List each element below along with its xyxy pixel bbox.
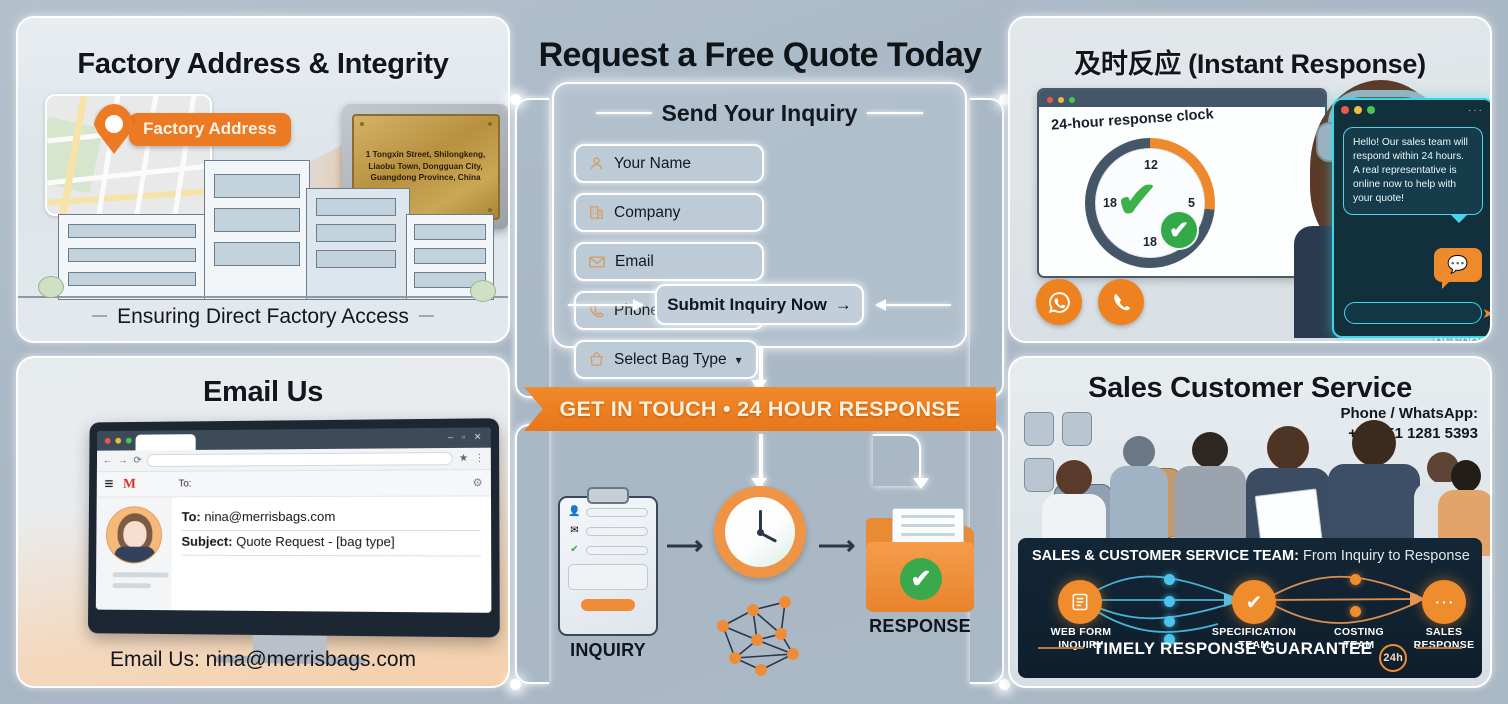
browser-tab[interactable] xyxy=(135,434,195,450)
gear-icon[interactable]: ⚙ xyxy=(472,476,482,489)
envelope-mini-icon: ✉ xyxy=(568,526,581,536)
page-headline: Request a Free Quote Today xyxy=(518,36,1002,75)
arrow-left-to-submit xyxy=(568,304,643,306)
pipeline-node-specification: ✔ xyxy=(1232,580,1276,624)
browser-titlebar: – ▫ ✕ xyxy=(97,427,491,450)
plaque-address-text: 1 Tongxin Street, Shilongkeng, Liaobu To… xyxy=(354,149,498,184)
email-subject-row[interactable]: Subject: Quote Request - [bag type] xyxy=(181,531,480,557)
window-minimize-dot[interactable] xyxy=(115,438,121,444)
chat-more-icon[interactable]: ··· xyxy=(1468,105,1484,116)
window-close-dot[interactable] xyxy=(105,438,111,444)
field-company-placeholder: Company xyxy=(614,204,680,222)
field-bag-type-value: Select Bag Type xyxy=(614,351,727,369)
person-mini-icon: 👤 xyxy=(568,507,581,517)
submit-inquiry-button[interactable]: Submit Inquiry Now → xyxy=(655,284,864,325)
inquiry-response-flow: 👤 ✉ ✔ INQUIRY ⟶ xyxy=(518,468,1002,678)
timely-response-guarantee: TIMELY RESPONSE GUARANTEE24h xyxy=(1018,639,1482,672)
clock-verified-badge: ✔ xyxy=(1159,210,1199,250)
pipeline-node-web-form xyxy=(1058,580,1102,624)
whatsapp-icon[interactable] xyxy=(1036,279,1082,325)
arrow-right-to-submit xyxy=(876,304,951,306)
envelope-icon xyxy=(588,253,606,271)
form-heading: Send Your Inquiry xyxy=(554,100,965,127)
check-mini-icon: ✔ xyxy=(568,545,581,555)
flow-response-label: RESPONSE xyxy=(866,616,974,637)
pipeline-strip: SALES & CUSTOMER SERVICE TEAM: From Inqu… xyxy=(1018,538,1482,678)
arrow-right-icon: → xyxy=(835,295,852,315)
live-chat-window[interactable]: ··· Hello! Our sales team will respond w… xyxy=(1332,98,1492,338)
avatar xyxy=(106,506,162,563)
gmail-header: ≡ M To: ⚙ xyxy=(97,470,491,498)
get-in-touch-ribbon: GET IN TOUCH • 24 HOUR RESPONSE xyxy=(524,387,996,431)
clock-num-5: 5 xyxy=(1188,196,1195,210)
guarantee-24h-badge: 24h xyxy=(1379,644,1407,672)
email-to-value: nina@merrisbags.com xyxy=(204,509,335,524)
window-maximize-dot[interactable] xyxy=(126,438,132,444)
clock-num-18-bottom: 18 xyxy=(1143,235,1157,249)
email-to-row[interactable]: To: nina@merrisbags.com xyxy=(182,506,481,531)
monitor-illustration: – ▫ ✕ ← → ⟳ ★ ⋮ ≡ M To: ⚙ xyxy=(88,418,500,637)
chat-input[interactable] xyxy=(1344,302,1482,324)
email-compose-body: To: nina@merrisbags.com Subject: Quote R… xyxy=(171,496,491,612)
sales-team-illustration xyxy=(1018,406,1482,556)
panel-factory-address: Factory Address & Integrity Factory Addr… xyxy=(16,16,510,343)
pipeline-title-bold: SALES & CUSTOMER SERVICE TEAM: xyxy=(1032,548,1299,564)
person-icon xyxy=(588,155,605,172)
building-icon xyxy=(588,204,605,221)
center-column: Request a Free Quote Today Send Your Inq… xyxy=(518,16,1002,688)
map-pin-factory-address[interactable]: Factory Address xyxy=(93,104,291,154)
flow-arrow-1: ⟶ xyxy=(666,530,703,561)
field-company[interactable]: Company xyxy=(574,193,764,232)
browser-window[interactable]: – ▫ ✕ ← → ⟳ ★ ⋮ ≡ M To: ⚙ xyxy=(96,427,492,612)
pipeline-title-rest: From Inquiry to Response xyxy=(1299,548,1470,564)
email-to-label: To: xyxy=(182,509,201,524)
chat-balloon-icon[interactable]: 💬 xyxy=(1434,248,1482,282)
panel-sales-customer-service: Sales Customer Service Phone / WhatsApp:… xyxy=(1008,356,1492,688)
field-your-name[interactable]: Your Name xyxy=(574,144,764,183)
gmail-to-label: To: xyxy=(178,479,191,490)
forward-icon[interactable]: → xyxy=(118,455,128,466)
factory-title: Factory Address & Integrity xyxy=(18,48,508,81)
address-bar[interactable] xyxy=(147,452,452,467)
chevron-down-icon[interactable]: ▾ xyxy=(736,353,742,367)
flow-inquiry: 👤 ✉ ✔ INQUIRY xyxy=(558,496,658,661)
reload-icon[interactable]: ⟳ xyxy=(133,455,141,466)
email-body-area[interactable] xyxy=(181,556,481,579)
clipboard-icon: 👤 ✉ ✔ xyxy=(558,496,658,636)
green-check-icon: ✔ xyxy=(1116,175,1158,225)
flow-arrow-2: ⟶ xyxy=(818,530,855,561)
flow-inquiry-label: INQUIRY xyxy=(558,640,658,661)
check-icon: ✔ xyxy=(900,558,942,600)
flow-clock xyxy=(714,486,806,578)
inquiry-form-card: Send Your Inquiry Your Name Company xyxy=(552,82,967,348)
map-pin-label: Factory Address xyxy=(129,113,291,146)
email-subject-value: Quote Request - [bag type] xyxy=(236,534,395,549)
field-email[interactable]: Email xyxy=(574,242,764,281)
form-fields: Your Name Company Email xyxy=(574,144,945,379)
field-email-placeholder: Email xyxy=(615,253,654,271)
clock-num-12: 12 xyxy=(1144,158,1158,172)
location-pin-icon xyxy=(93,104,135,154)
email-subject-label: Subject: xyxy=(181,534,232,549)
bag-icon xyxy=(588,351,605,368)
panel-instant-response: 及时反应 (Instant Response) 24-hour response… xyxy=(1008,16,1492,343)
back-icon[interactable]: ← xyxy=(103,455,113,466)
monitor-power-button xyxy=(282,615,298,631)
factory-caption: Ensuring Direct Factory Access xyxy=(18,305,508,329)
submit-row: Submit Inquiry Now → xyxy=(568,284,951,325)
gmail-sidebar xyxy=(96,497,172,610)
neural-network-icon xyxy=(705,590,815,676)
24-hour-clock-icon: 12 5 18 18 ✔ xyxy=(1085,138,1215,268)
response-clock-screen: 24-hour response clock 12 5 18 18 ✔ ✔ xyxy=(1037,88,1327,278)
window-controls[interactable]: – ▫ ✕ xyxy=(448,432,485,443)
infographic-canvas: Factory Address & Integrity Factory Addr… xyxy=(0,0,1508,704)
send-icon[interactable]: ➤ xyxy=(1482,305,1492,322)
flow-response: ✔ RESPONSE xyxy=(866,508,974,637)
clock-num-18-left: 18 xyxy=(1103,196,1117,210)
bookmark-star-icon[interactable]: ★ xyxy=(459,453,468,464)
pipeline-node-sales-response: ··· xyxy=(1422,580,1466,624)
field-your-name-placeholder: Your Name xyxy=(614,155,691,173)
hamburger-menu-icon[interactable]: ≡ xyxy=(104,476,113,494)
field-select-bag-type[interactable]: Select Bag Type ▾ xyxy=(574,340,758,379)
email-caption: Email Us: nina@merrisbags.com xyxy=(18,648,508,672)
browser-menu-icon[interactable]: ⋮ xyxy=(474,453,484,464)
sales-title: Sales Customer Service xyxy=(1010,372,1490,405)
pipeline-title: SALES & CUSTOMER SERVICE TEAM: From Inqu… xyxy=(1032,548,1470,564)
browser-toolbar: ← → ⟳ ★ ⋮ xyxy=(97,448,491,472)
clock-icon xyxy=(714,486,806,578)
chat-message-bubble: Hello! Our sales team will respond withi… xyxy=(1343,127,1483,215)
panel-email-us: Email Us – ▫ ✕ ← → ⟳ ★ ⋮ xyxy=(16,356,510,688)
email-title: Email Us xyxy=(18,376,508,409)
ribbon-text: GET IN TOUCH • 24 HOUR RESPONSE xyxy=(524,387,996,431)
phone-call-icon[interactable] xyxy=(1098,279,1144,325)
guarantee-text: TIMELY RESPONSE GUARANTEE xyxy=(1093,639,1373,658)
folder-check-icon: ✔ xyxy=(866,508,974,612)
gmail-logo-icon: M xyxy=(123,476,136,492)
clock-screen-caption: 24-hour response clock xyxy=(1051,106,1215,133)
submit-inquiry-label: Submit Inquiry Now xyxy=(667,295,827,315)
